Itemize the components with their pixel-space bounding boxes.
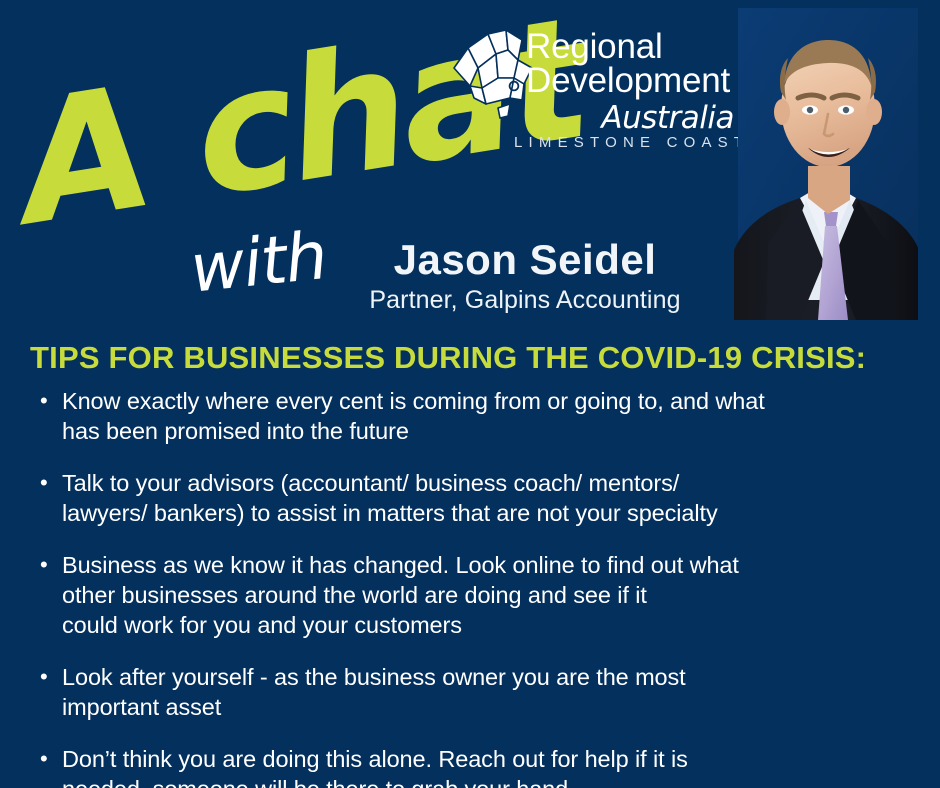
tips-list: • Know exactly where every cent is comin… [34,386,918,788]
rda-logo-wordmark: Regional Development Australia [526,22,744,152]
tip-item: • Business as we know it has changed. Lo… [34,550,918,640]
speaker-photo [728,0,918,320]
bullet-marker: • [34,550,62,580]
speaker-block: Jason Seidel Partner, Galpins Accounting [330,238,720,315]
logo-region-limestone-coast: LIMESTONE COAST [514,134,749,151]
logo-line-development: Development [526,64,744,98]
bullet-marker: • [34,386,62,416]
bullet-marker: • [34,744,62,774]
tip-item: • Talk to your advisors (accountant/ bus… [34,468,918,528]
tip-item: • Know exactly where every cent is comin… [34,386,918,446]
logo-script-australia: Australia [588,96,738,138]
tip-text: Don’t think you are doing this alone. Re… [62,744,918,788]
tip-text: Business as we know it has changed. Look… [62,550,918,640]
logo-australia-text: Australia [599,100,734,136]
tip-item: • Don’t think you are doing this alone. … [34,744,918,788]
tip-text: Look after yourself - as the business ow… [62,662,918,722]
with-script-icon: with [182,204,351,312]
tip-text: Know exactly where every cent is coming … [62,386,918,446]
tip-item: • Look after yourself - as the business … [34,662,918,722]
bullet-marker: • [34,662,62,692]
poster-canvas: A chat with [0,0,940,788]
tip-text: Talk to your advisors (accountant/ busin… [62,468,918,528]
speaker-portrait-image [728,0,918,320]
speaker-name: Jason Seidel [330,238,720,282]
tips-heading: TIPS FOR BUSINESSES DURING THE COVID-19 … [30,340,866,376]
with-script-text: with [187,217,330,308]
speaker-role: Partner, Galpins Accounting [330,286,720,315]
bullet-marker: • [34,468,62,498]
script-connector-with: with [182,204,351,312]
rda-logo: Regional Development Australia LIMESTONE… [452,22,742,154]
logo-line-regional: Regional [526,30,744,64]
